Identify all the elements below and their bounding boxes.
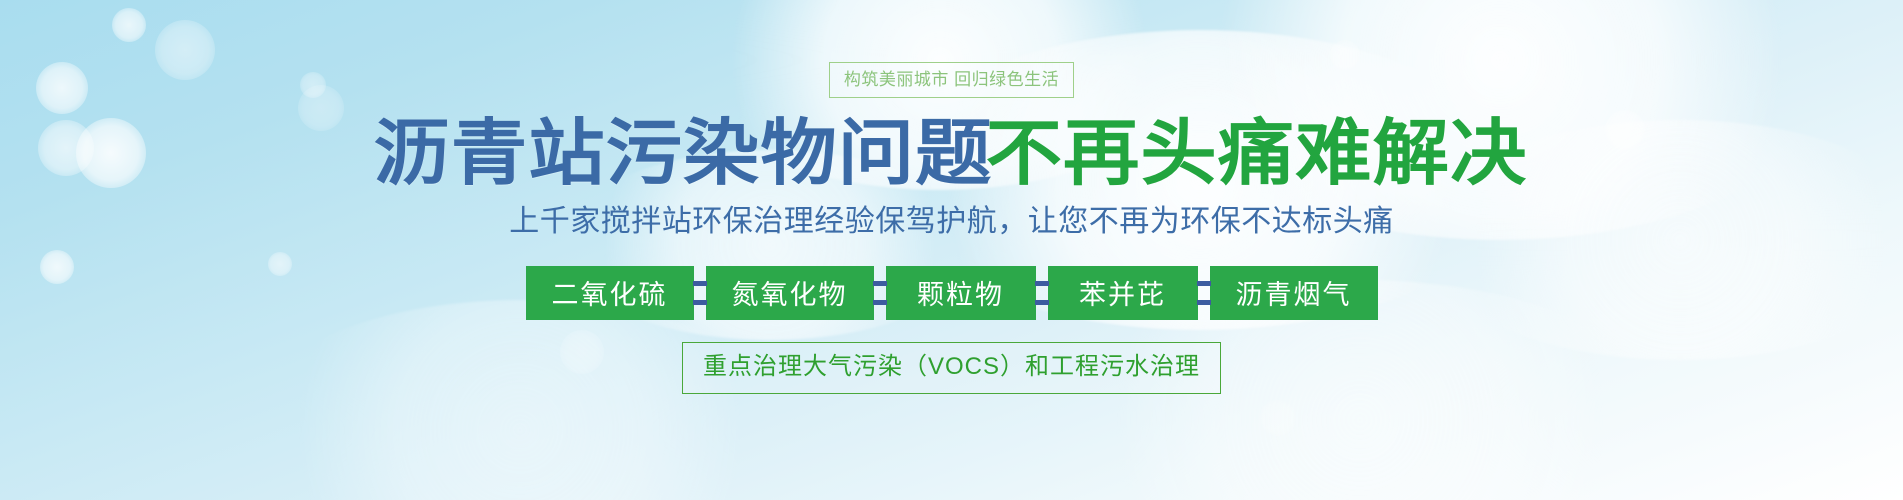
tag-item-benzopyrene[interactable]: 苯并芘 bbox=[1048, 266, 1198, 320]
separator-dash-top bbox=[693, 281, 707, 286]
headline-green-text: 不再头痛难解决 bbox=[986, 116, 1528, 192]
tag-separator bbox=[1036, 266, 1048, 320]
separator-dash-top bbox=[1197, 281, 1211, 286]
separator-dash-bottom bbox=[873, 300, 887, 305]
tag-item-sulfur-dioxide[interactable]: 二氧化硫 bbox=[526, 266, 694, 320]
headline-blue-text: 沥青站污染物问题 bbox=[373, 116, 992, 192]
tag-item-asphalt-fume[interactable]: 沥青烟气 bbox=[1210, 266, 1378, 320]
page-title: 沥青站污染物问题 不再头痛难解决 bbox=[391, 116, 1512, 192]
separator-dash-bottom bbox=[1197, 300, 1211, 305]
tag-separator bbox=[1198, 266, 1210, 320]
separator-dash-bottom bbox=[693, 300, 707, 305]
hero-banner: 构筑美丽城市 回归绿色生活 沥青站污染物问题 不再头痛难解决 上千家搅拌站环保治… bbox=[0, 0, 1903, 500]
tag-separator bbox=[694, 266, 706, 320]
tag-item-particulate-matter[interactable]: 颗粒物 bbox=[886, 266, 1036, 320]
tagline-pill: 构筑美丽城市 回归绿色生活 bbox=[829, 62, 1074, 98]
separator-dash-top bbox=[873, 281, 887, 286]
focus-note-box: 重点治理大气污染（VOCS）和工程污水治理 bbox=[682, 342, 1221, 394]
tag-item-nitrogen-oxides[interactable]: 氮氧化物 bbox=[706, 266, 874, 320]
separator-dash-top bbox=[1035, 281, 1049, 286]
subtitle-text: 上千家搅拌站环保治理经验保驾护航，让您不再为环保不达标头痛 bbox=[509, 204, 1394, 240]
separator-dash-bottom bbox=[1035, 300, 1049, 305]
tag-separator bbox=[874, 266, 886, 320]
pollutant-tag-row: 二氧化硫 氮氧化物 颗粒物 苯并芘 沥青烟气 bbox=[526, 266, 1378, 320]
banner-content: 构筑美丽城市 回归绿色生活 沥青站污染物问题 不再头痛难解决 上千家搅拌站环保治… bbox=[0, 0, 1903, 500]
